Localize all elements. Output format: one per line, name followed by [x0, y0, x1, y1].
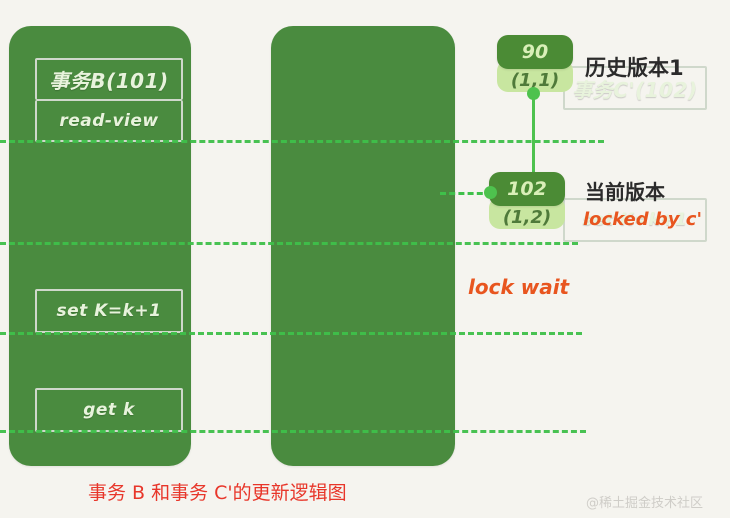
diagram-canvas: 事务B(101) read-view set K=k+1 get k 事务C'(…: [0, 0, 730, 518]
transaction-b-read-view: read-view: [35, 100, 183, 142]
watermark: @稀土掘金技术社区: [586, 492, 703, 511]
version-chain-connector: [532, 92, 535, 180]
history-version-record: 90 (1,1): [497, 35, 573, 92]
diagram-caption: 事务 B 和事务 C'的更新逻辑图: [88, 478, 347, 505]
transaction-b-op-get: get k: [35, 388, 183, 432]
current-version-annotation: 当前版本: [585, 176, 665, 205]
transaction-b-column: 事务B(101) read-view set K=k+1 get k: [9, 26, 191, 466]
timeline-divider-1: [0, 140, 604, 143]
transaction-c-column: 事务C'(102) set K=k+1: [271, 26, 455, 466]
history-version-trx-id: 90: [497, 35, 573, 69]
transaction-b-title: 事务B(101): [35, 58, 183, 100]
version-chain-dot: [527, 87, 540, 100]
history-version-annotation: 历史版本1: [585, 52, 684, 82]
timeline-divider-3: [0, 332, 582, 335]
connector-dot-left: [484, 186, 497, 199]
timeline-divider-4: [0, 430, 586, 433]
current-version-trx-id: 102: [489, 172, 565, 206]
transaction-b-op-set: set K=k+1: [35, 289, 183, 333]
locked-by-annotation: locked by c': [583, 209, 702, 230]
lock-wait-annotation: lock wait: [468, 275, 569, 299]
timeline-divider-2: [0, 242, 578, 245]
current-version-record: 102 (1,2): [489, 172, 565, 229]
